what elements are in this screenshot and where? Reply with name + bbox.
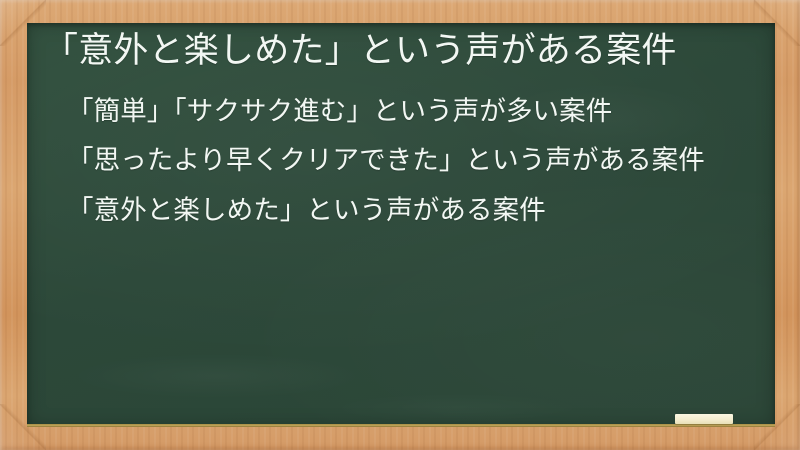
page-title: 「意外と楽しめた」という声がある案件 <box>43 29 759 75</box>
list-item: 「思ったより早くクリアできた」という声がある案件 <box>43 142 759 180</box>
bullet-list: 「簡単」「サクサク進む」という声が多い案件 「思ったより早くクリアできた」という… <box>43 93 759 230</box>
slide-content: 「意外と楽しめた」という声がある案件 「簡単」「サクサク進む」という声が多い案件… <box>27 23 775 427</box>
chalk-stick <box>675 414 733 424</box>
list-item: 「意外と楽しめた」という声がある案件 <box>43 192 759 230</box>
list-item: 「簡単」「サクサク進む」という声が多い案件 <box>43 93 759 131</box>
chalk-ledge <box>27 424 775 427</box>
chalkboard-wooden-frame: 「意外と楽しめた」という声がある案件 「簡単」「サクサク進む」という声が多い案件… <box>0 0 800 450</box>
chalkboard-surface: 「意外と楽しめた」という声がある案件 「簡単」「サクサク進む」という声が多い案件… <box>27 23 775 427</box>
